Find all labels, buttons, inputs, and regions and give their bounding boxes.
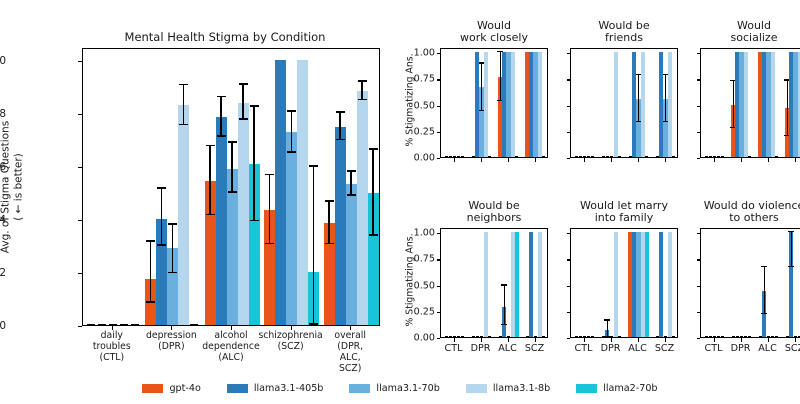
subplot-bar-SCZ-llama3.1-8b: [668, 52, 672, 157]
main-bar-overall-llama3.1-70b: [346, 184, 357, 325]
main-errorbar: [339, 113, 341, 141]
subplot-bar-CTL-llama3.1-405b: [579, 336, 582, 337]
subplot-plot-area-would-be-neighbors: [440, 228, 548, 338]
subplot-bar-ALC-llama3.1-8b: [511, 52, 515, 157]
subplot-x-tick-label-SCZ: SCZ: [655, 343, 674, 354]
subplot-errorbar: [733, 81, 734, 128]
subplot-x-tick-label-CTL: CTL: [575, 343, 593, 354]
subplot-bar-CTL-llama3.1-70b: [583, 336, 586, 337]
main-errorbar-cap: [228, 191, 237, 193]
subplot-x-tick-label-DPR: DPR: [471, 343, 491, 354]
main-y-tick-mark: [78, 61, 82, 62]
subplot-y-tick-mark: [567, 106, 571, 107]
subplot-bar-CTL-gpt-4o: [705, 156, 708, 157]
subplot-bar-CTL-gpt-4o: [445, 336, 448, 337]
subplot-plot-area-would-socialize: [700, 48, 800, 158]
main-errorbar-cap: [250, 105, 259, 107]
main-errorbar-cap: [309, 323, 318, 325]
subplot-x-tick-mark: [535, 158, 536, 162]
subplot-errorbar-cap: [788, 266, 794, 267]
subplot-bar-SCZ-llama2-70b: [542, 156, 545, 157]
main-y-tick-label: 0.4: [0, 214, 6, 226]
subplot-plot-area-would-work-closely: [440, 48, 548, 158]
main-bar-schizophrenia-llama3.1-70b: [286, 132, 297, 325]
subplot-bar-DPR-llama3.1-405b: [476, 336, 479, 337]
main-y-axis-label-line1: Avg. of Stigma Questions: [0, 121, 11, 253]
legend-label-llama3.1-70b: llama3.1-70b: [376, 383, 439, 394]
main-bar-depression-llama2-70b: [190, 324, 198, 325]
subplot-bar-DPR-gpt-4o: [602, 156, 605, 157]
subplot-bar-SCZ-llama3.1-8b: [538, 232, 542, 337]
subplot-bar-ALC-llama2-70b: [775, 156, 778, 157]
subplot-bar-CTL-llama3.1-405b: [449, 336, 452, 337]
subplot-x-tick-mark: [611, 158, 612, 162]
subplot-x-tick-mark: [638, 338, 639, 342]
subplot-bar-CTL-llama2-70b: [721, 336, 724, 337]
subplot-bar-ALC-llama3.1-8b: [771, 52, 775, 157]
subplot-title-would-let-marry-into-family: Would let marryinto family: [570, 200, 678, 225]
main-errorbar-cap: [146, 240, 155, 242]
subplot-bar-DPR-llama3.1-405b: [606, 156, 609, 157]
subplot-y-tick-mark: [697, 233, 701, 234]
subplot-x-tick-mark: [454, 338, 455, 342]
main-y-tick-label: 0.0: [0, 320, 6, 332]
subplot-y-tick-mark: [567, 312, 571, 313]
legend-item-gpt-4o[interactable]: gpt-4o: [142, 383, 200, 394]
subplot-x-tick-label-SCZ: SCZ: [525, 343, 544, 354]
main-y-tick-label: 1.0: [0, 55, 6, 67]
subplot-bar-DPR-llama3.1-8b: [744, 336, 747, 337]
subplot-y-tick-label: 0.50: [414, 280, 435, 291]
main-y-tick-mark: [78, 273, 82, 274]
main-errorbar-cap: [309, 165, 318, 167]
main-chart-panel: Mental Health Stigma by Condition Avg. o…: [0, 0, 390, 404]
main-errorbar-cap: [369, 234, 378, 236]
main-errorbar-cap: [217, 96, 226, 98]
subplot-errorbar: [665, 75, 666, 122]
subplot-x-tick-label-ALC: ALC: [758, 343, 777, 354]
subplot-bar-DPR-llama3.1-8b: [614, 232, 618, 337]
subplot-y-tick-mark: [437, 79, 441, 80]
page-title: Mental Health Stigma by Condition: [60, 30, 390, 44]
subplot-y-tick-mark: [437, 286, 441, 287]
main-errorbar: [372, 150, 374, 236]
subplot-y-tick-label: 0.25: [414, 126, 435, 137]
subplot-bar-CTL-llama2-70b: [461, 156, 464, 157]
main-y-axis-label: Avg. of Stigma Questions ( ← is better): [0, 121, 25, 253]
subplot-bar-SCZ-llama2-70b: [542, 336, 545, 337]
main-bar-depression-llama3.1-8b: [178, 105, 189, 325]
subplot-bar-SCZ-llama3.1-8b: [668, 232, 672, 337]
subplot-y-tick-mark: [437, 259, 441, 260]
subplot-bar-ALC-llama2-70b: [515, 232, 519, 337]
subplot-x-tick-mark: [508, 338, 509, 342]
subplot-bar-DPR-gpt-4o: [732, 336, 735, 337]
main-errorbar: [350, 172, 352, 196]
main-bars-layer: [83, 49, 379, 325]
main-errorbar-cap: [206, 214, 215, 216]
main-bar-daily-llama3.1-8b: [120, 324, 128, 325]
subplot-bar-DPR-llama3.1-8b: [614, 52, 618, 157]
legend: gpt-4ollama3.1-405bllama3.1-70bllama3.1-…: [0, 379, 800, 397]
subplot-x-tick-mark: [584, 158, 585, 162]
main-errorbar-cap: [369, 148, 378, 150]
subplot-y-tick-mark: [437, 53, 441, 54]
main-y-axis-label-line2: ( ← is better): [12, 153, 24, 221]
subplot-errorbar-cap: [761, 313, 767, 314]
subplot-bar-CTL-llama3.1-405b: [709, 156, 712, 157]
subplot-x-tick-mark: [665, 338, 666, 342]
subplot-x-tick-mark: [714, 158, 715, 162]
subplot-bar-SCZ-llama3.1-70b: [794, 336, 797, 337]
legend-item-llama3.1-405b[interactable]: llama3.1-405b: [227, 383, 324, 394]
subplot-y-tick-mark: [697, 158, 701, 159]
subplot-y-tick-label: 0.75: [414, 254, 435, 265]
subplot-plot-area-would-do-violence-to-others: [700, 228, 800, 338]
subplot-plot-area-would-be-friends: [570, 48, 678, 158]
legend-item-llama2-70b[interactable]: llama2-70b: [576, 383, 657, 394]
subplot-y-tick-label: 0.00: [414, 153, 435, 164]
subplot-bar-CTL-llama3.1-70b: [713, 336, 716, 337]
main-x-tick-label: schizophrenia(SCZ): [258, 331, 322, 353]
main-y-tick-mark: [78, 167, 82, 168]
subplot-bar-CTL-llama2-70b: [461, 336, 464, 337]
main-bar-alcohol-llama3.1-405b: [216, 117, 227, 325]
main-errorbar: [231, 143, 233, 193]
subplot-title-would-be-neighbors: Would beneighbors: [440, 200, 548, 225]
subplot-x-tick-mark: [795, 338, 796, 342]
subplot-x-tick-label-ALC: ALC: [498, 343, 517, 354]
legend-swatch-llama3.1-405b: [227, 384, 248, 393]
subplot-y-axis-label-would-work-closely: % Stigmatizing Ans.: [405, 59, 416, 147]
main-errorbar: [253, 107, 255, 221]
subplot-would-let-marry-into-family: Would let marryinto familyCTLDPRALCSCZ: [570, 228, 678, 338]
main-errorbar: [220, 97, 222, 137]
legend-swatch-gpt-4o: [142, 384, 163, 393]
main-bar-daily-llama2-70b: [131, 324, 139, 325]
subplot-bar-CTL-llama3.1-70b: [713, 156, 716, 157]
subplot-y-tick-mark: [697, 53, 701, 54]
subplot-y-tick-mark: [697, 259, 701, 260]
subplot-bar-CTL-llama3.1-405b: [709, 336, 712, 337]
main-errorbar-cap: [217, 135, 226, 137]
legend-item-llama3.1-70b[interactable]: llama3.1-70b: [349, 383, 439, 394]
main-errorbar-cap: [250, 220, 259, 222]
subplot-y-tick-label: 0.25: [414, 306, 435, 317]
subplot-y-tick-mark: [567, 158, 571, 159]
legend-swatch-llama2-70b: [576, 384, 597, 393]
subplot-bar-DPR-llama2-70b: [748, 336, 751, 337]
main-y-tick-mark: [78, 326, 82, 327]
subplot-y-tick-mark: [437, 106, 441, 107]
main-errorbar: [291, 112, 293, 153]
subplot-bar-DPR-llama3.1-8b: [484, 52, 488, 157]
main-errorbar: [328, 202, 330, 244]
main-errorbar-cap: [179, 84, 188, 86]
main-errorbar-cap: [179, 124, 188, 126]
main-errorbar-cap: [336, 111, 345, 113]
subplot-bar-SCZ-llama2-70b: [672, 336, 675, 337]
subplot-title-would-work-closely: Wouldwork closely: [440, 20, 548, 45]
main-errorbar-cap: [239, 83, 248, 85]
subplot-bar-SCZ-llama3.1-405b: [529, 232, 533, 337]
main-y-tick-label: 0.6: [0, 161, 6, 173]
main-x-tick-label: overall(DPR, ALC,SCZ): [330, 331, 370, 375]
main-errorbar: [183, 85, 185, 125]
legend-label-llama3.1-405b: llama3.1-405b: [254, 383, 324, 394]
main-errorbar-cap: [287, 151, 296, 153]
subplot-bar-SCZ-llama3.1-8b: [538, 52, 542, 157]
subplot-would-be-friends: Would befriends: [570, 48, 678, 158]
main-errorbar-cap: [325, 243, 334, 245]
subplot-errorbar: [504, 286, 505, 326]
subplot-x-tick-label-CTL: CTL: [705, 343, 723, 354]
main-errorbar: [361, 82, 363, 101]
main-errorbar-cap: [358, 80, 367, 82]
subplot-x-tick-label-SCZ: SCZ: [785, 343, 800, 354]
subplot-bar-DPR-llama3.1-70b: [740, 336, 743, 337]
subplot-y-tick-label: 0.50: [414, 100, 435, 111]
main-errorbar-cap: [358, 99, 367, 101]
subplot-x-tick-mark: [481, 338, 482, 342]
subplot-x-tick-mark: [611, 338, 612, 342]
subplot-bar-CTL-llama3.1-70b: [453, 156, 456, 157]
subplot-bar-CTL-llama2-70b: [591, 156, 594, 157]
subplot-y-tick-mark: [437, 158, 441, 159]
subplot-y-tick-mark: [697, 132, 701, 133]
main-errorbar: [150, 242, 152, 303]
subplot-would-do-violence-to-others: Would do violenceto othersCTLDPRALCSCZ: [700, 228, 800, 338]
subplot-errorbar: [787, 81, 788, 137]
subplot-bar-DPR-llama2-70b: [618, 156, 621, 157]
figure-root: Mental Health Stigma by Condition Avg. o…: [0, 0, 800, 404]
subplot-y-tick-mark: [697, 338, 701, 339]
main-errorbar-cap: [239, 118, 248, 120]
main-errorbar-cap: [325, 200, 334, 202]
subplot-bar-CTL-gpt-4o: [575, 336, 578, 337]
subplot-would-be-neighbors: Would beneighbors0.000.250.500.751.00CTL…: [440, 228, 548, 338]
main-y-tick-label: 0.8: [0, 108, 6, 120]
subplot-bar-DPR-gpt-4o: [472, 336, 475, 337]
legend-label-llama3.1-8b: llama3.1-8b: [493, 383, 550, 394]
subplot-bar-CTL-llama3.1-8b: [587, 336, 590, 337]
subplot-x-tick-label-DPR: DPR: [731, 343, 751, 354]
subplot-y-axis-label-would-be-neighbors: % Stigmatizing Ans.: [405, 239, 416, 327]
subplot-errorbar: [764, 267, 765, 314]
subplot-errorbar-cap: [761, 266, 767, 267]
subplot-x-tick-mark: [768, 158, 769, 162]
subplot-bar-CTL-llama3.1-8b: [717, 156, 720, 157]
subplot-bar-CTL-llama3.1-8b: [457, 336, 460, 337]
subplot-bar-CTL-llama3.1-70b: [453, 336, 456, 337]
main-errorbar-cap: [168, 272, 177, 274]
subplot-y-tick-mark: [567, 338, 571, 339]
subplot-y-tick-mark: [567, 286, 571, 287]
subplot-bar-ALC-llama3.1-8b: [771, 336, 774, 337]
subplot-bar-DPR-llama2-70b: [618, 336, 621, 337]
subplot-errorbar-cap: [501, 324, 507, 325]
subplot-bar-SCZ-llama3.1-405b: [659, 232, 663, 337]
legend-swatch-llama3.1-70b: [349, 384, 370, 393]
subplot-y-tick-label: 1.00: [414, 228, 435, 239]
subplot-y-tick-mark: [697, 286, 701, 287]
subplot-bar-CTL-llama3.1-405b: [579, 156, 582, 157]
subplot-bar-CTL-llama2-70b: [591, 336, 594, 337]
subplot-errorbar: [638, 75, 639, 122]
subplot-y-tick-mark: [437, 312, 441, 313]
main-errorbar: [172, 225, 174, 273]
subplot-y-tick-label: 0.75: [414, 74, 435, 85]
subplot-bar-DPR-llama3.1-405b: [736, 336, 739, 337]
main-y-tick-label: 0.2: [0, 267, 6, 279]
main-errorbar: [161, 189, 163, 246]
subplot-bar-CTL-llama3.1-8b: [717, 336, 720, 337]
subplot-x-tick-mark: [584, 338, 585, 342]
subplot-bar-DPR-llama2-70b: [748, 156, 751, 157]
main-errorbar-cap: [347, 194, 356, 196]
main-errorbar-cap: [347, 170, 356, 172]
main-bar-daily-llama3.1-70b: [109, 324, 117, 325]
main-errorbar-cap: [157, 187, 166, 189]
subplot-plot-area-would-let-marry-into-family: [570, 228, 678, 338]
main-bar-overall-llama3.1-405b: [335, 127, 346, 325]
subplot-bar-ALC-llama3.1-70b: [767, 336, 770, 337]
subplot-bar-ALC-llama2-70b: [515, 156, 518, 157]
main-errorbar: [269, 175, 271, 244]
subplot-x-tick-mark: [481, 158, 482, 162]
main-bar-overall-llama3.1-8b: [357, 91, 368, 325]
subplot-y-tick-label: 1.00: [414, 48, 435, 59]
subplot-y-tick-mark: [437, 132, 441, 133]
main-errorbar-cap: [265, 243, 274, 245]
subplot-bar-ALC-llama2-70b: [645, 232, 649, 337]
main-errorbar-cap: [168, 223, 177, 225]
subplot-bar-CTL-llama3.1-8b: [587, 156, 590, 157]
subplot-x-tick-mark: [714, 338, 715, 342]
subplot-x-tick-mark: [508, 158, 509, 162]
main-errorbar: [209, 146, 211, 215]
subplot-y-tick-mark: [567, 79, 571, 80]
legend-label-llama2-70b: llama2-70b: [603, 383, 657, 394]
subplot-y-tick-mark: [567, 53, 571, 54]
subplot-would-socialize: Wouldsocialize: [700, 48, 800, 158]
subplot-x-tick-label-ALC: ALC: [628, 343, 647, 354]
subplot-bar-CTL-gpt-4o: [445, 156, 448, 157]
subplot-bar-SCZ-llama2-70b: [672, 156, 675, 157]
main-y-tick-mark: [78, 114, 82, 115]
subplot-x-tick-mark: [768, 338, 769, 342]
subplot-bar-ALC-llama3.1-8b: [641, 52, 645, 157]
main-y-tick-mark: [78, 220, 82, 221]
main-x-tick-label: dailytroubles(CTL): [93, 331, 131, 364]
subplot-y-tick-label: 0.00: [414, 333, 435, 344]
main-errorbar: [313, 167, 315, 325]
subplot-x-tick-mark: [741, 338, 742, 342]
main-bar-schizophrenia-llama3.1-405b: [275, 60, 286, 325]
subplot-bar-ALC-llama2-70b: [645, 156, 648, 157]
subplot-grid: Wouldwork closely0.000.250.500.751.00% S…: [392, 0, 800, 404]
subplot-bar-DPR-llama2-70b: [488, 336, 491, 337]
subplot-bar-CTL-llama2-70b: [721, 156, 724, 157]
legend-label-gpt-4o: gpt-4o: [169, 383, 200, 394]
subplot-bar-CTL-gpt-4o: [575, 156, 578, 157]
main-errorbar: [242, 85, 244, 120]
subplot-title-would-be-friends: Would befriends: [570, 20, 678, 45]
subplot-x-tick-mark: [665, 158, 666, 162]
subplot-bar-CTL-gpt-4o: [705, 336, 708, 337]
subplot-y-tick-mark: [697, 106, 701, 107]
subplot-bar-DPR-llama2-70b: [488, 156, 491, 157]
subplot-x-tick-label-DPR: DPR: [601, 343, 621, 354]
main-bar-alcohol-llama3.1-8b: [238, 103, 249, 325]
subplot-y-tick-mark: [567, 259, 571, 260]
subplot-y-tick-mark: [697, 312, 701, 313]
legend-swatch-llama3.1-8b: [466, 384, 487, 393]
main-x-tick-label: depression(DPR): [146, 331, 197, 353]
main-errorbar-cap: [146, 301, 155, 303]
subplot-x-tick-mark: [454, 158, 455, 162]
subplot-bar-ALC-llama2-70b: [775, 336, 778, 337]
main-errorbar-cap: [206, 145, 215, 147]
subplot-y-tick-mark: [437, 338, 441, 339]
subplot-y-tick-mark: [437, 233, 441, 234]
subplot-bar-CTL-llama3.1-70b: [583, 156, 586, 157]
main-errorbar-cap: [157, 244, 166, 246]
subplot-x-tick-mark: [638, 158, 639, 162]
subplot-x-tick-mark: [795, 158, 796, 162]
subplot-bar-CTL-llama3.1-8b: [457, 156, 460, 157]
subplot-y-tick-mark: [567, 233, 571, 234]
subplot-title-would-socialize: Wouldsocialize: [700, 20, 800, 45]
main-bar-schizophrenia-llama3.1-8b: [297, 60, 308, 325]
subplot-errorbar: [500, 52, 501, 101]
subplot-errorbar-cap: [788, 231, 794, 232]
main-bar-daily-llama3.1-405b: [98, 324, 106, 325]
main-plot-area: [82, 48, 380, 326]
main-errorbar-cap: [265, 174, 274, 176]
subplot-y-tick-mark: [697, 79, 701, 80]
main-x-tick-label: alcoholdependence(ALC): [202, 331, 259, 364]
subplot-errorbar: [481, 64, 482, 111]
main-errorbar-cap: [336, 139, 345, 141]
main-errorbar-cap: [287, 110, 296, 112]
main-errorbar-cap: [228, 141, 237, 143]
subplot-bar-CTL-llama3.1-405b: [449, 156, 452, 157]
subplot-errorbar-cap: [604, 319, 610, 320]
subplot-bar-DPR-llama3.1-8b: [744, 52, 748, 157]
subplot-errorbar: [607, 321, 608, 337]
subplot-errorbar-cap: [501, 284, 507, 285]
subplot-x-tick-label-CTL: CTL: [445, 343, 463, 354]
legend-item-llama3.1-8b[interactable]: llama3.1-8b: [466, 383, 550, 394]
subplot-y-tick-mark: [567, 132, 571, 133]
main-bar-daily-gpt-4o: [87, 324, 95, 325]
subplot-x-tick-mark: [741, 158, 742, 162]
subplot-bar-DPR-llama3.1-8b: [484, 232, 488, 337]
subplot-errorbar: [791, 232, 792, 267]
subplot-title-would-do-violence-to-others: Would do violenceto others: [700, 200, 800, 225]
subplot-x-tick-mark: [535, 338, 536, 342]
subplot-would-work-closely: Wouldwork closely0.000.250.500.751.00% S…: [440, 48, 548, 158]
